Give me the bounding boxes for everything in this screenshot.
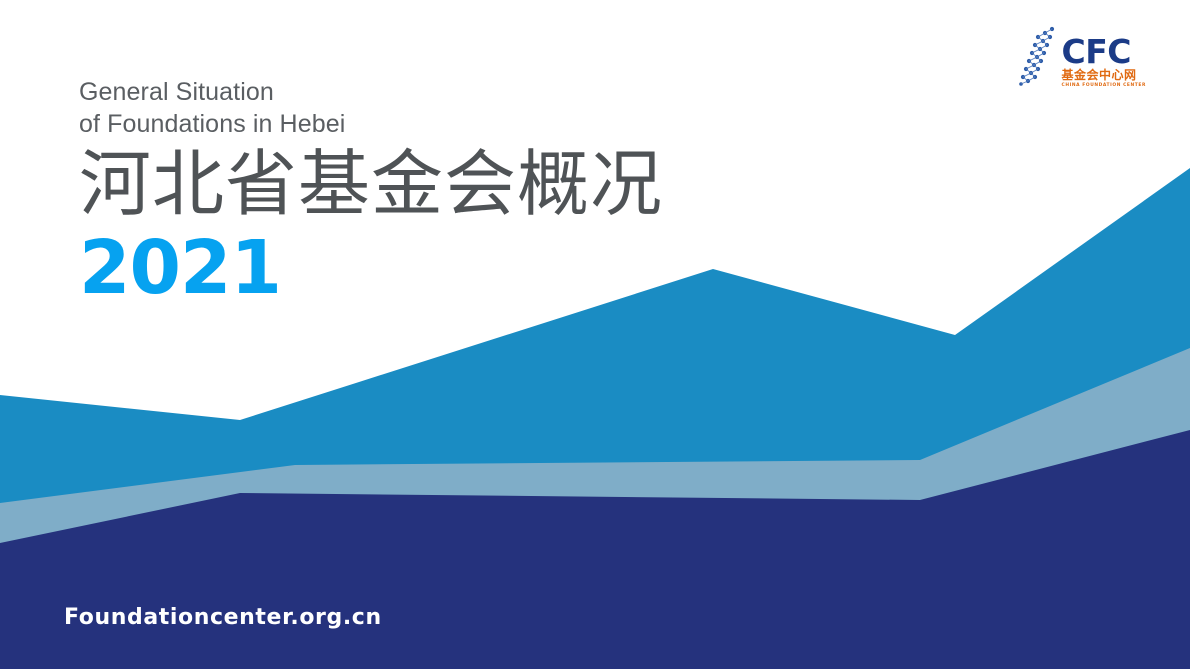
cfc-wordmark: CFC (1062, 36, 1131, 67)
subtitle-line-1: General Situation (79, 77, 739, 109)
title-block: General Situation of Foundations in Hebe… (79, 77, 739, 305)
cfc-chinese-name: 基金会中心网 (1062, 69, 1137, 82)
footer-website-url[interactable]: Foundationcenter.org.cn (64, 605, 382, 630)
cfc-logo[interactable]: CFC 基金会中心网 CHINA FOUNDATION CENTER (1018, 24, 1146, 92)
cfc-network-dots-mark (1015, 24, 1059, 86)
page-title-chinese: 河北省基金会概况 (79, 144, 739, 225)
cfc-english-name: CHINA FOUNDATION CENTER (1062, 84, 1146, 89)
slide-canvas: CFC 基金会中心网 CHINA FOUNDATION CENTER Gener… (0, 0, 1190, 669)
cfc-logo-text: CFC 基金会中心网 CHINA FOUNDATION CENTER (1062, 24, 1146, 88)
subtitle-line-2: of Foundations in Hebei (79, 109, 739, 141)
report-year: 2021 (79, 231, 739, 305)
